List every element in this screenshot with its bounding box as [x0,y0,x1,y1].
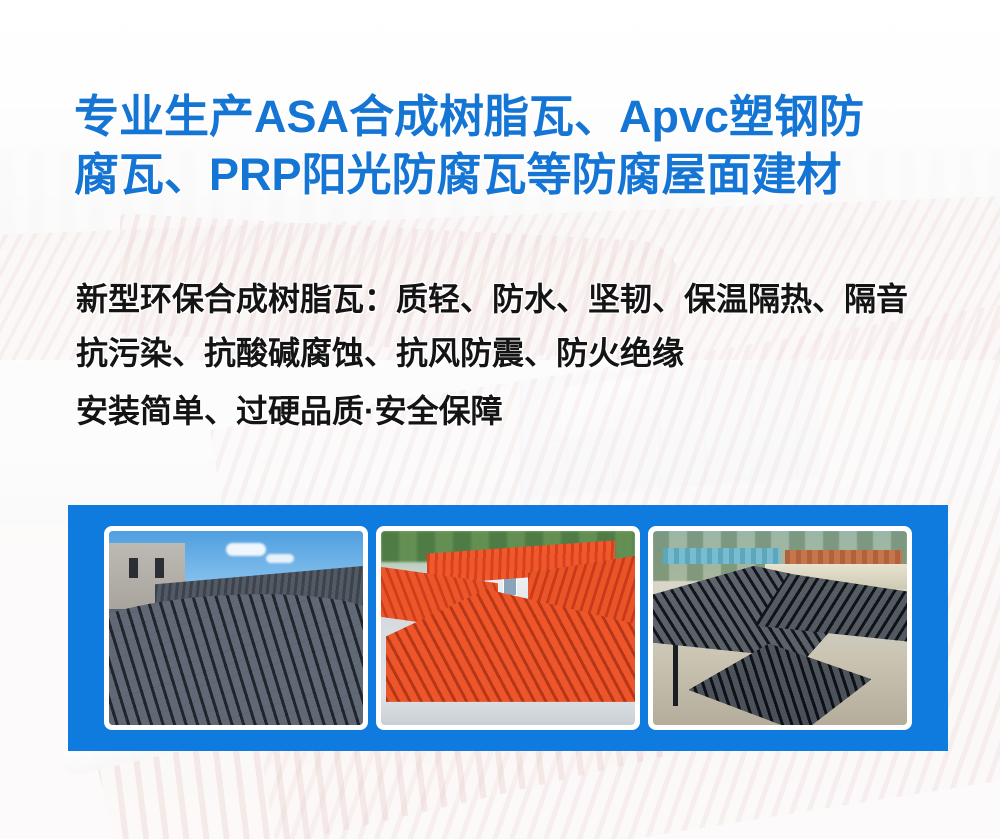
feature-line-3: 安装简单、过硬品质·安全保障 [76,384,976,438]
feature-line-2: 抗污染、抗酸碱腐蚀、抗风防震、防火绝缘 [76,326,976,380]
product-banner: 专业生产ASA合成树脂瓦、Apvc塑钢防 腐瓦、PRP阳光防腐瓦等防腐屋面建材 … [0,0,1000,839]
page-title: 专业生产ASA合成树脂瓦、Apvc塑钢防 腐瓦、PRP阳光防腐瓦等防腐屋面建材 [74,88,974,204]
gallery-photo-red-roof[interactable] [376,526,640,730]
photo1-cloud-icon-2 [266,554,294,563]
gallery-photo-black-roof[interactable] [648,526,912,730]
photo3-blue-shed-roof [663,548,780,564]
photo1-main-tiled-roof [109,587,363,725]
page-title-line-1: 专业生产ASA合成树脂瓦、Apvc塑钢防 [74,88,974,146]
gallery-photo-red-roof-image [381,531,635,725]
gallery-photo-black-roof-image [653,531,907,725]
page-title-line-2: 腐瓦、PRP阳光防腐瓦等防腐屋面建材 [74,146,974,204]
feature-list: 新型环保合成树脂瓦：质轻、防水、坚韧、保温隔热、隔音 抗污染、抗酸碱腐蚀、抗风防… [76,272,976,438]
feature-line-1: 新型环保合成树脂瓦：质轻、防水、坚韧、保温隔热、隔音 [76,272,976,326]
gallery-photo-grey-roof[interactable] [104,526,368,730]
photo-gallery-panel [68,505,948,751]
photo1-window [155,558,164,578]
photo1-window [129,558,138,578]
photo1-cloud-icon [226,543,266,556]
photo3-support-post [673,640,678,706]
gallery-photo-grey-roof-image [109,531,363,725]
